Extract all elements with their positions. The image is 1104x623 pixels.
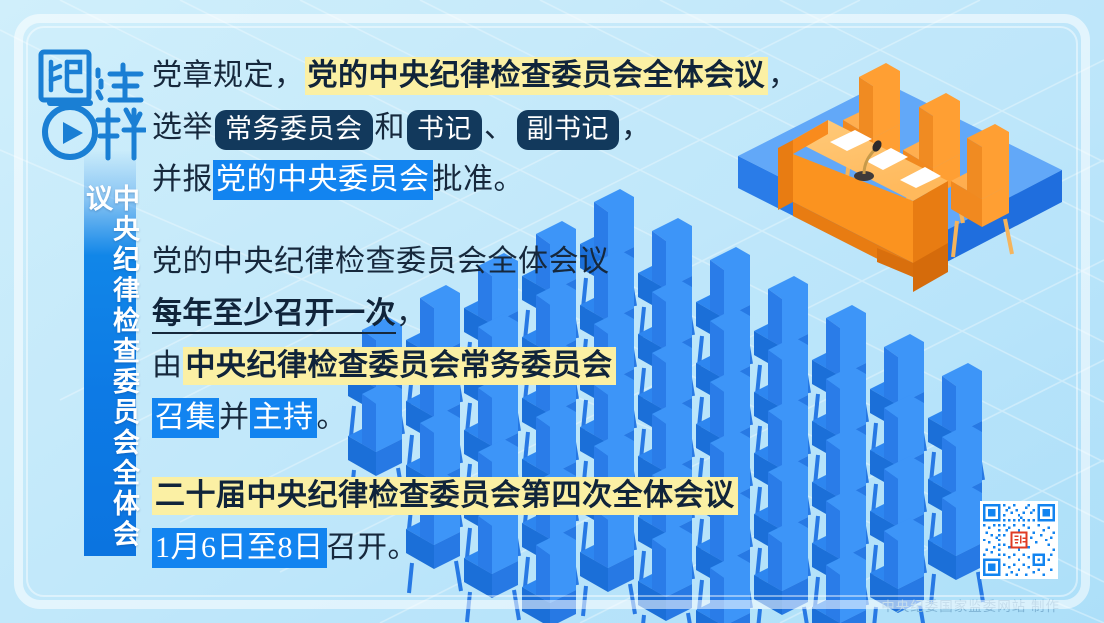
p3l1-highlight-yellow: 二十届中央纪律检查委员会第四次全体会议 xyxy=(152,477,738,515)
poster-canvas: 中央纪律检查委员会全体会议 党章规定，党的中央纪律检查委员会全体会议， 选举常务… xyxy=(0,0,1104,623)
p1l2-plain-b: 和 xyxy=(375,111,406,144)
credit-text: 中央纪委国家监委网站 制作 xyxy=(881,595,1060,615)
p1l3-highlight-blue: 党的中央委员会 xyxy=(213,160,433,200)
p2l4-highlight-blue-a: 召集 xyxy=(152,398,219,438)
play-triangle-icon xyxy=(63,122,83,144)
p1l1-plain-a: 党章规定， xyxy=(152,59,305,92)
chip-standing-committee: 常务委员会 xyxy=(215,110,373,150)
p2l4-plain-b: 。 xyxy=(317,401,348,434)
p2l3-plain-a: 由 xyxy=(152,349,183,382)
p2l4-highlight-blue-b: 主持 xyxy=(250,398,317,438)
paragraph-2: 党的中央纪律检查委员会全体会议 每年至少召开一次， 由中央纪律检查委员会常务委员… xyxy=(152,236,852,444)
p3-line-1: 二十届中央纪律检查委员会第四次全体会议 xyxy=(152,470,852,522)
p1-line-3: 并报党的中央委员会批准。 xyxy=(152,154,852,206)
chip-deputy-secretary: 副书记 xyxy=(517,110,620,150)
p3-line-2: 1月6日至8日召开。 xyxy=(152,522,852,574)
p3l2-plain-a: 召开。 xyxy=(327,531,419,564)
p2-line-1: 党的中央纪律检查委员会全体会议 xyxy=(152,236,852,288)
p2l4-plain-a: 并 xyxy=(219,401,250,434)
vertical-banner-text: 中央纪律检查委员会全体会议 xyxy=(83,184,137,556)
p1l2-plain-d: ， xyxy=(621,111,652,144)
p1l1-plain-b: ， xyxy=(768,59,799,92)
p1l3-plain-a: 并报 xyxy=(152,163,213,196)
paragraph-3: 二十届中央纪律检查委员会第四次全体会议 1月6日至8日召开。 xyxy=(152,470,852,574)
vertical-title-banner: 中央纪律检查委员会全体会议 xyxy=(84,150,136,556)
p2-line-4: 召集并主持。 xyxy=(152,392,852,444)
p1-line-1: 党章规定，党的中央纪律检查委员会全体会议， xyxy=(152,50,852,102)
p2l2-bold-underline: 每年至少召开一次 xyxy=(152,297,396,334)
qr-code[interactable] xyxy=(980,501,1058,579)
p1l2-plain-c: 、 xyxy=(484,111,515,144)
p2-line-2: 每年至少召开一次， xyxy=(152,288,852,340)
qr-code-matrix[interactable] xyxy=(983,504,1055,576)
brand-logo xyxy=(38,48,146,166)
p3l2-highlight-blue: 1月6日至8日 xyxy=(152,528,327,568)
main-copy: 党章规定，党的中央纪律检查委员会全体会议， 选举常务委员会和书记、副书记， 并报… xyxy=(152,50,852,588)
p1l2-plain-a: 选举 xyxy=(152,111,213,144)
p2l2-plain-b: ， xyxy=(396,297,427,330)
logo-jifabaike xyxy=(38,48,146,166)
p2l3-highlight-yellow: 中央纪律检查委员会常务委员会 xyxy=(183,347,616,385)
chip-secretary: 书记 xyxy=(407,110,482,150)
p1-line-2: 选举常务委员会和书记、副书记， xyxy=(152,102,852,154)
p1l3-plain-b: 批准。 xyxy=(433,163,525,196)
p1l1-highlight-yellow: 党的中央纪律检查委员会全体会议 xyxy=(305,57,769,95)
paragraph-1: 党章规定，党的中央纪律检查委员会全体会议， 选举常务委员会和书记、副书记， 并报… xyxy=(152,50,852,206)
p2-line-3: 由中央纪律检查委员会常务委员会 xyxy=(152,340,852,392)
